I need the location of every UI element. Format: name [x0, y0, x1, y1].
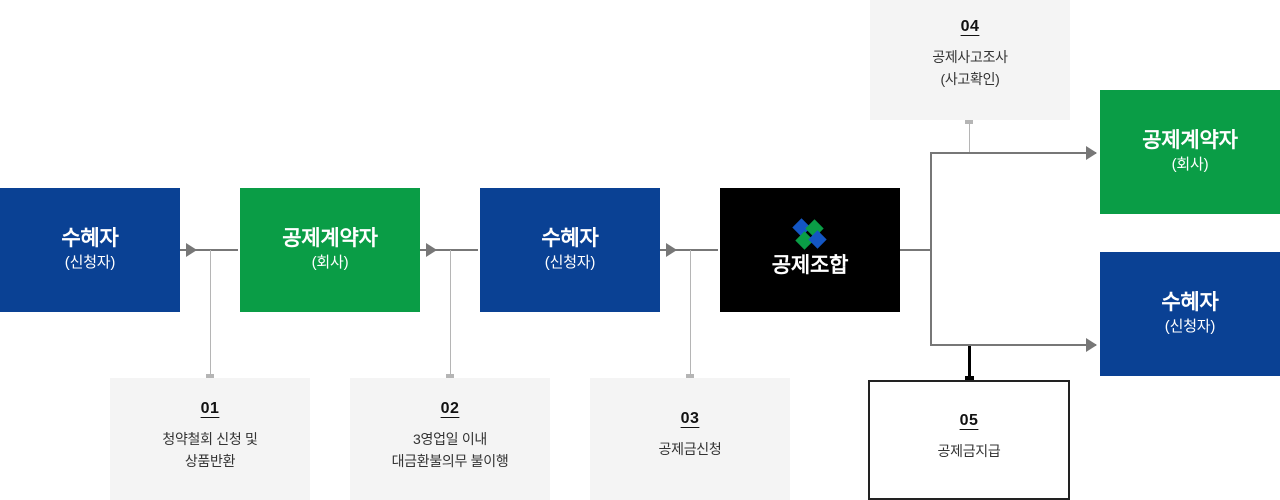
- step-04[interactable]: 04 공제사고조사 (사고확인): [870, 0, 1070, 120]
- actor-beneficiary-3-subtitle: (신청자): [1165, 316, 1215, 339]
- fork-vertical-bus: [930, 152, 932, 346]
- actor-association[interactable]: 공제조합: [720, 188, 900, 312]
- step-01-text: 청약철회 신청 및 상품반환: [162, 429, 257, 472]
- droplink-step-01: [210, 250, 211, 378]
- actor-contractor-2[interactable]: 공제계약자 (회사): [1100, 90, 1280, 214]
- step-03[interactable]: 03 공제금신청: [590, 378, 790, 500]
- step-02-text: 3영업일 이내 대금환불의무 불이행: [392, 429, 509, 472]
- actor-contractor-2-subtitle: (회사): [1172, 154, 1209, 177]
- step-04-text: 공제사고조사 (사고확인): [932, 47, 1007, 90]
- arrowhead-3: [666, 243, 677, 257]
- actor-beneficiary-3[interactable]: 수혜자 (신청자): [1100, 252, 1280, 376]
- actor-beneficiary-1-subtitle: (신청자): [65, 252, 115, 275]
- arrowhead-1: [186, 243, 197, 257]
- actor-contractor-1-subtitle: (회사): [312, 252, 349, 275]
- step-02[interactable]: 02 3영업일 이내 대금환불의무 불이행: [350, 378, 550, 500]
- flow-diagram: 수혜자 (신청자) 공제계약자 (회사) 수혜자 (신청자) 공제조합 공제계약…: [0, 0, 1280, 500]
- actor-beneficiary-3-title: 수혜자: [1161, 290, 1218, 316]
- step-04-number: 04: [961, 18, 980, 36]
- actor-beneficiary-2-title: 수혜자: [541, 226, 598, 252]
- actor-beneficiary-1-title: 수혜자: [61, 226, 118, 252]
- step-05[interactable]: 05 공제금지급: [868, 380, 1070, 500]
- actor-association-title: 공제조합: [772, 253, 848, 279]
- droplink-step-03: [690, 250, 691, 378]
- droplink-step-04: [969, 120, 970, 152]
- actor-beneficiary-2-subtitle: (신청자): [545, 252, 595, 275]
- droplink-step-02: [450, 250, 451, 378]
- connector-association-to-fork: [900, 249, 932, 251]
- actor-beneficiary-2[interactable]: 수혜자 (신청자): [480, 188, 660, 312]
- actor-beneficiary-1[interactable]: 수혜자 (신청자): [0, 188, 180, 312]
- step-02-number: 02: [441, 400, 460, 418]
- actor-contractor-2-title: 공제계약자: [1142, 128, 1238, 154]
- step-03-number: 03: [681, 410, 700, 428]
- connector-fork-to-contractor2: [930, 152, 1096, 154]
- arrowhead-2: [426, 243, 437, 257]
- connector-fork-to-beneficiary3: [930, 344, 1096, 346]
- actor-contractor-1-title: 공제계약자: [282, 226, 378, 252]
- arrowhead-5: [1086, 338, 1097, 352]
- step-01-number: 01: [201, 400, 220, 418]
- pinwheel-logo-icon: [793, 220, 827, 250]
- step-05-text: 공제금지급: [938, 441, 1001, 463]
- step-03-text: 공제금신청: [659, 439, 722, 461]
- actor-contractor-1[interactable]: 공제계약자 (회사): [240, 188, 420, 312]
- step-01[interactable]: 01 청약철회 신청 및 상품반환: [110, 378, 310, 500]
- arrowhead-4: [1086, 146, 1097, 160]
- step-05-number: 05: [960, 412, 979, 430]
